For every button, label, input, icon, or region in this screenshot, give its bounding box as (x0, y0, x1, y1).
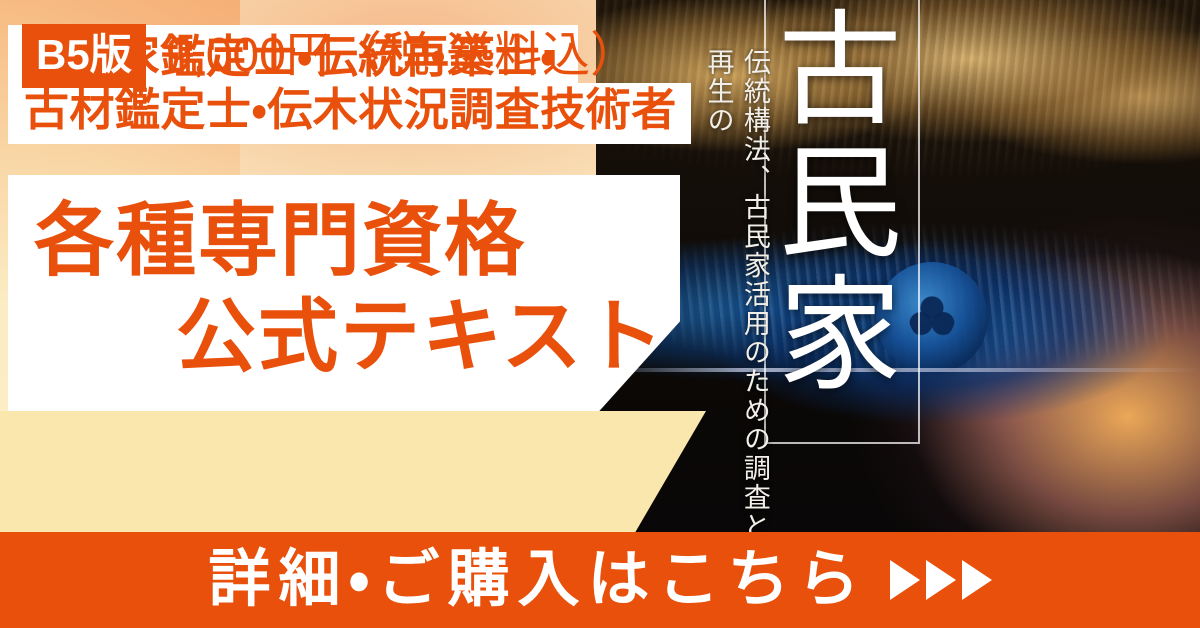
book-size-badge: B5版 (22, 24, 146, 88)
main-heading-line-1: 各種専門資格 (34, 201, 526, 281)
main-heading-line-2: 公式テキスト (176, 297, 666, 377)
cta-bar[interactable]: 詳細・ご購入はこちら (0, 532, 1200, 628)
price-row: B5版 9,000円（税・送料込） (22, 24, 638, 88)
main-heading-box: 各種専門資格 公式テキスト (8, 175, 680, 411)
triangle-right-icon (890, 560, 920, 600)
cover-title-char-1: 古 (770, 6, 910, 139)
qualification-title-line-2: 古材鑑定士・伝木状況調査技術者 (8, 83, 691, 144)
cta-arrow-group (890, 560, 992, 600)
cta-label: 詳細・ご購入はこちら (208, 549, 867, 611)
promo-banner: 古 民 家 伝統構法、古民家活用のための調査と再生の 古民家鑑定士・伝統再築士・… (0, 0, 1200, 628)
cover-title-vertical: 古 民 家 (770, 6, 910, 404)
price-amount: 9,000円（税・送料込） (166, 32, 638, 80)
price-strip (0, 411, 706, 532)
triangle-right-icon (926, 560, 956, 600)
cover-subtitle-vertical: 伝統構法、古民家活用のための調査と再生の (700, 48, 773, 548)
cover-title-char-2: 民 (770, 139, 910, 272)
cover-title-char-3: 家 (770, 271, 910, 404)
triangle-right-icon (962, 560, 992, 600)
